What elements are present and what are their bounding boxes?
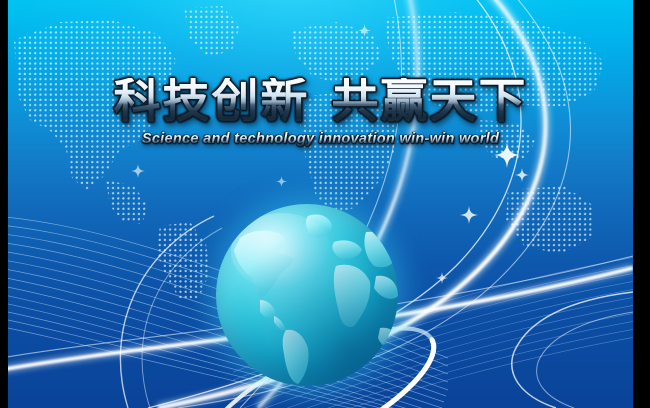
poster-stage: 科技创新共赢天下 Science and technology innovati… xyxy=(8,0,633,408)
headline-subtitle-english: Science and technology innovation win-wi… xyxy=(8,131,633,147)
headline-chinese-part2: 共赢天下 xyxy=(332,74,528,129)
poster-canvas: 科技创新共赢天下 Science and technology innovati… xyxy=(0,0,650,408)
letterbox-left xyxy=(0,0,8,408)
globe xyxy=(216,204,398,386)
headline-chinese-part1: 科技创新 xyxy=(114,74,310,129)
letterbox-right xyxy=(633,0,650,408)
globe-terminator xyxy=(216,204,398,386)
headline-chinese: 科技创新共赢天下 xyxy=(114,78,528,125)
headline-block: 科技创新共赢天下 Science and technology innovati… xyxy=(8,78,633,147)
